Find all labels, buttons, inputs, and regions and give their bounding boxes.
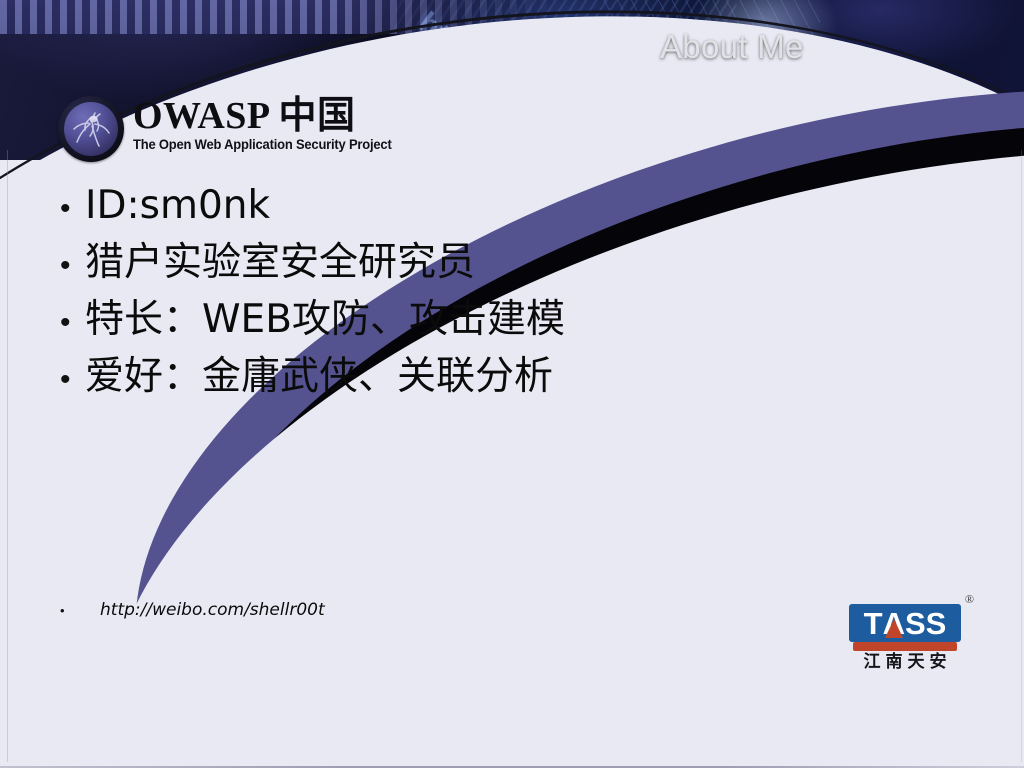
list-item: • ID:sm0nk (52, 182, 952, 239)
tass-letters-ss: SS (905, 608, 946, 639)
tass-logo: ® TASS 江南天安 (842, 592, 972, 674)
bullet-marker-icon: • (52, 194, 85, 224)
bullet-text: 特长：WEB攻防、攻击建模 (85, 296, 565, 344)
tass-chinese-name: 江南天安 (849, 652, 961, 672)
weibo-url-text[interactable]: http://weibo.com/shellr00t (100, 600, 325, 620)
owasp-wordmark: OWASP 中国 The Open Web Application Securi… (133, 94, 402, 152)
owasp-name: OWASP 中国 (133, 95, 402, 136)
bullet-list: • ID:sm0nk • 猎户实验室安全研究员 • 特长：WEB攻防、攻击建模 … (52, 182, 952, 410)
slide-right-rule (1021, 150, 1022, 762)
list-item: • 特长：WEB攻防、攻击建模 (52, 296, 952, 353)
owasp-name-latin: OWASP (133, 95, 269, 137)
footnote-bullet-marker-icon: • (52, 603, 100, 618)
bullet-marker-icon: • (52, 365, 85, 395)
owasp-tagline: The Open Web Application Security Projec… (133, 137, 392, 152)
tass-logo-orange-bar (853, 642, 957, 651)
tass-letter-t: T (864, 608, 883, 639)
registered-trademark-icon: ® (965, 592, 974, 607)
bullet-marker-icon: • (52, 308, 85, 338)
footnote-list-item: • http://weibo.com/shellr00t (52, 600, 325, 620)
list-item: • 猎户实验室安全研究员 (52, 239, 952, 296)
slide-left-rule (7, 150, 8, 762)
page-title: About Me (660, 28, 804, 66)
bullet-marker-icon: • (52, 251, 85, 281)
tass-logo-letters: TASS (849, 604, 961, 642)
list-item: • 爱好：金庸武侠、关联分析 (52, 353, 952, 410)
owasp-logo: OWASP 中国 The Open Web Application Securi… (58, 94, 368, 170)
bullet-text: ID:sm0nk (85, 182, 270, 230)
tass-letter-a-triangle-icon (885, 619, 903, 638)
owasp-name-chinese: 中国 (279, 93, 356, 137)
owasp-mosquito-sphere-icon (58, 96, 124, 162)
tass-letter-a: A (883, 608, 905, 639)
bullet-text: 爱好：金庸武侠、关联分析 (85, 353, 553, 401)
presentation-slide: https:// About Me (0, 0, 1024, 768)
bullet-text: 猎户实验室安全研究员 (85, 239, 475, 287)
